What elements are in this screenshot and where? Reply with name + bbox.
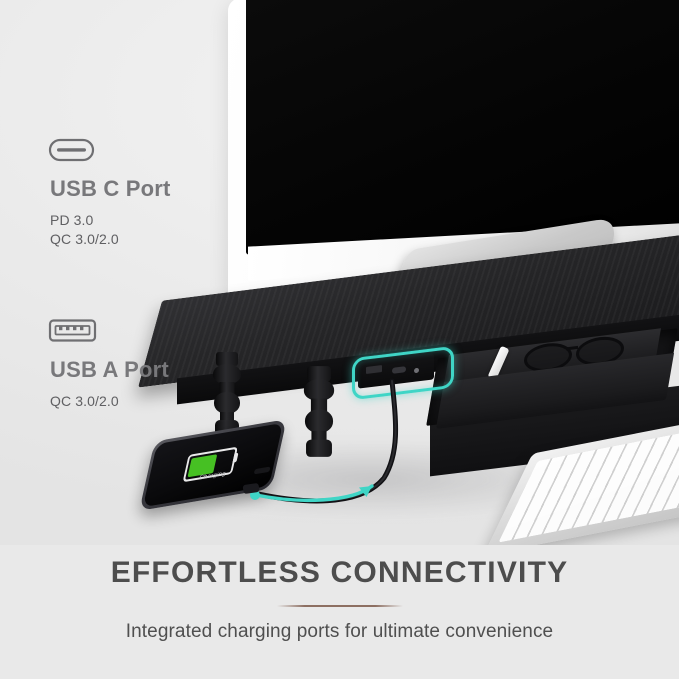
spec-usb-c: USB C Port PD 3.0 QC 3.0/2.0 xyxy=(48,138,171,250)
spec-title: USB A Port xyxy=(50,357,169,383)
spec-line: PD 3.0 xyxy=(50,212,171,228)
spec-line: QC 3.0/2.0 xyxy=(50,393,169,409)
spec-line: QC 3.0/2.0 xyxy=(50,231,171,247)
keyboard xyxy=(508,436,679,528)
spec-usb-a: USB A Port QC 3.0/2.0 xyxy=(48,318,169,412)
spec-title: USB C Port xyxy=(50,176,171,202)
subheadline: Integrated charging ports for ultimate c… xyxy=(0,621,679,643)
usb-a-port-icon xyxy=(48,318,97,343)
usb-c-port-icon xyxy=(48,138,95,162)
product-photo: Charging USB C Port xyxy=(0,0,679,545)
monitor-screen xyxy=(246,0,679,255)
headline: EFFORTLESS CONNECTIVITY xyxy=(0,556,679,590)
product-marketing-image: Charging USB C Port xyxy=(0,0,679,679)
decorative-divider xyxy=(277,605,403,607)
caption-block: EFFORTLESS CONNECTIVITY Integrated charg… xyxy=(0,545,679,643)
riser-leg-right xyxy=(303,366,335,470)
battery-cap-icon xyxy=(232,453,238,463)
